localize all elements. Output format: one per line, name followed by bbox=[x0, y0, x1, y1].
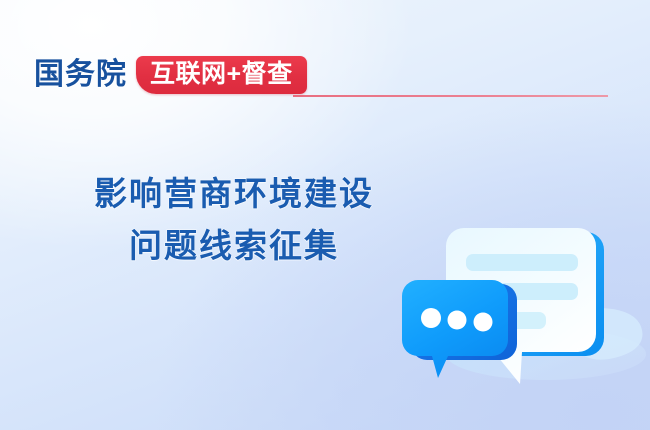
banner-root: 国务院 互联网+督查 影响营商环境建设 问题线索征集 bbox=[0, 0, 650, 430]
header: 国务院 互联网+督查 bbox=[34, 53, 307, 97]
large-bubble-text-bar bbox=[466, 254, 578, 271]
small-bubble-dot bbox=[448, 311, 467, 330]
header-divider-rule bbox=[293, 95, 608, 97]
small-bubble-dot bbox=[421, 308, 441, 328]
campaign-badge: 互联网+督查 bbox=[136, 56, 307, 94]
gov-name-label: 国务院 bbox=[34, 60, 127, 90]
small-bubble-dot bbox=[474, 313, 493, 332]
campaign-badge-label: 互联网+督查 bbox=[150, 62, 293, 87]
chat-bubbles-illustration bbox=[396, 196, 650, 406]
